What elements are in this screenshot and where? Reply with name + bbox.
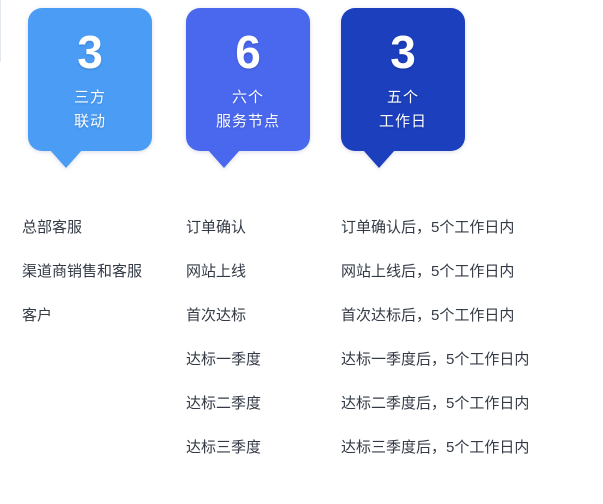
summary-card-3-pointer-icon	[363, 150, 395, 168]
summary-card-3-content: 3 五个 工作日	[341, 26, 465, 134]
summary-card-2-pointer-icon	[208, 150, 240, 168]
list-item: 网站上线后，5个工作日内	[341, 250, 599, 294]
list-item: 达标三季度	[186, 426, 331, 470]
summary-card-3-caption: 五个 工作日	[341, 86, 465, 134]
detail-column-participants: 总部客服 渠道商销售和客服 客户	[22, 206, 182, 338]
list-item: 网站上线	[186, 250, 331, 294]
summary-card-1-pointer-icon	[50, 150, 82, 168]
summary-card-1-number: 3	[28, 26, 152, 78]
summary-card-1-caption-line1: 三方	[28, 86, 152, 110]
summary-card-3-caption-line1: 五个	[341, 86, 465, 110]
summary-card-3-number: 3	[341, 26, 465, 78]
list-item: 达标二季度	[186, 382, 331, 426]
summary-card-2-caption-line2: 服务节点	[186, 110, 310, 134]
infographic-page: 3 三方 联动 6 六个 服务节点 3 五个	[0, 0, 603, 504]
list-item: 达标一季度	[186, 338, 331, 382]
summary-card-2-caption-line1: 六个	[186, 86, 310, 110]
detail-column-nodes: 订单确认 网站上线 首次达标 达标一季度 达标二季度 达标三季度	[186, 206, 331, 470]
list-item: 达标一季度后，5个工作日内	[341, 338, 599, 382]
list-item: 首次达标后，5个工作日内	[341, 294, 599, 338]
summary-card-2-caption: 六个 服务节点	[186, 86, 310, 134]
detail-columns: 总部客服 渠道商销售和客服 客户 订单确认 网站上线 首次达标 达标一季度 达标…	[0, 206, 603, 496]
list-item: 订单确认	[186, 206, 331, 250]
list-item: 客户	[22, 294, 182, 338]
summary-card-1-caption: 三方 联动	[28, 86, 152, 134]
detail-column-timelines: 订单确认后，5个工作日内 网站上线后，5个工作日内 首次达标后，5个工作日内 达…	[341, 206, 599, 470]
summary-card-2-content: 6 六个 服务节点	[186, 26, 310, 134]
list-item: 达标三季度后，5个工作日内	[341, 426, 599, 470]
summary-card-1-content: 3 三方 联动	[28, 26, 152, 134]
list-item: 达标二季度后，5个工作日内	[341, 382, 599, 426]
list-item: 总部客服	[22, 206, 182, 250]
summary-card-3-caption-line2: 工作日	[341, 110, 465, 134]
list-item: 订单确认后，5个工作日内	[341, 206, 599, 250]
summary-card-2: 6 六个 服务节点	[186, 8, 310, 151]
summary-card-2-number: 6	[186, 26, 310, 78]
summary-card-1-caption-line2: 联动	[28, 110, 152, 134]
summary-card-3: 3 五个 工作日	[341, 8, 465, 151]
summary-cards: 3 三方 联动 6 六个 服务节点 3 五个	[0, 0, 603, 180]
list-item: 渠道商销售和客服	[22, 250, 182, 294]
summary-card-1: 3 三方 联动	[28, 8, 152, 151]
list-item: 首次达标	[186, 294, 331, 338]
